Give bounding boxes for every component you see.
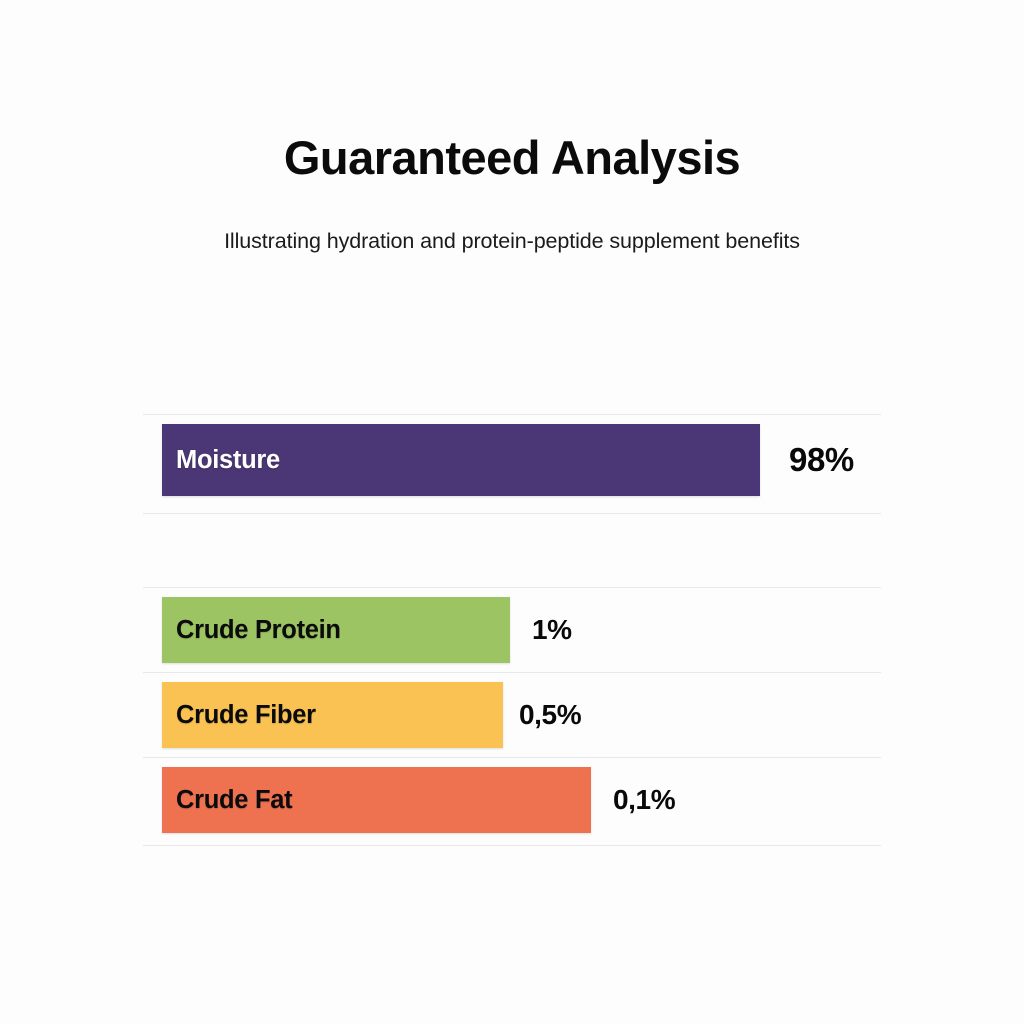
bar-crude-protein[interactable]: Crude Protein — [162, 597, 510, 663]
bar-value-label: 0,5% — [519, 682, 581, 748]
bar-moisture[interactable]: Moisture — [162, 424, 760, 496]
chart-grid-line — [143, 672, 881, 673]
horizontal-bar-chart: Moisture98%Crude Protein1%Crude Fiber0,5… — [143, 414, 881, 845]
chart-header: Guaranteed Analysis Illustrating hydrati… — [0, 132, 1024, 254]
page-title: Guaranteed Analysis — [0, 132, 1024, 185]
bar-row[interactable]: Moisture98% — [143, 424, 881, 496]
bar-value-label: 98% — [789, 424, 854, 496]
chart-canvas: Guaranteed Analysis Illustrating hydrati… — [0, 0, 1024, 1024]
bar-crude-fat[interactable]: Crude Fat — [162, 767, 591, 833]
chart-grid-line — [143, 845, 881, 846]
bar-row[interactable]: Crude Fiber0,5% — [143, 682, 881, 748]
chart-grid-line — [143, 414, 881, 415]
chart-grid-line — [143, 513, 881, 514]
chart-grid-line — [143, 587, 881, 588]
chart-subtitle: Illustrating hydration and protein-pepti… — [0, 229, 1024, 254]
bar-value-label: 0,1% — [613, 767, 675, 833]
bar-row[interactable]: Crude Protein1% — [143, 597, 881, 663]
bar-crude-fiber[interactable]: Crude Fiber — [162, 682, 503, 748]
bar-label: Crude Protein — [176, 616, 341, 645]
bar-label: Moisture — [176, 446, 280, 475]
bar-value-label: 1% — [532, 597, 572, 663]
bar-row[interactable]: Crude Fat0,1% — [143, 767, 881, 833]
bar-label: Crude Fiber — [176, 701, 316, 730]
bar-label: Crude Fat — [176, 786, 292, 815]
chart-grid-line — [143, 757, 881, 758]
